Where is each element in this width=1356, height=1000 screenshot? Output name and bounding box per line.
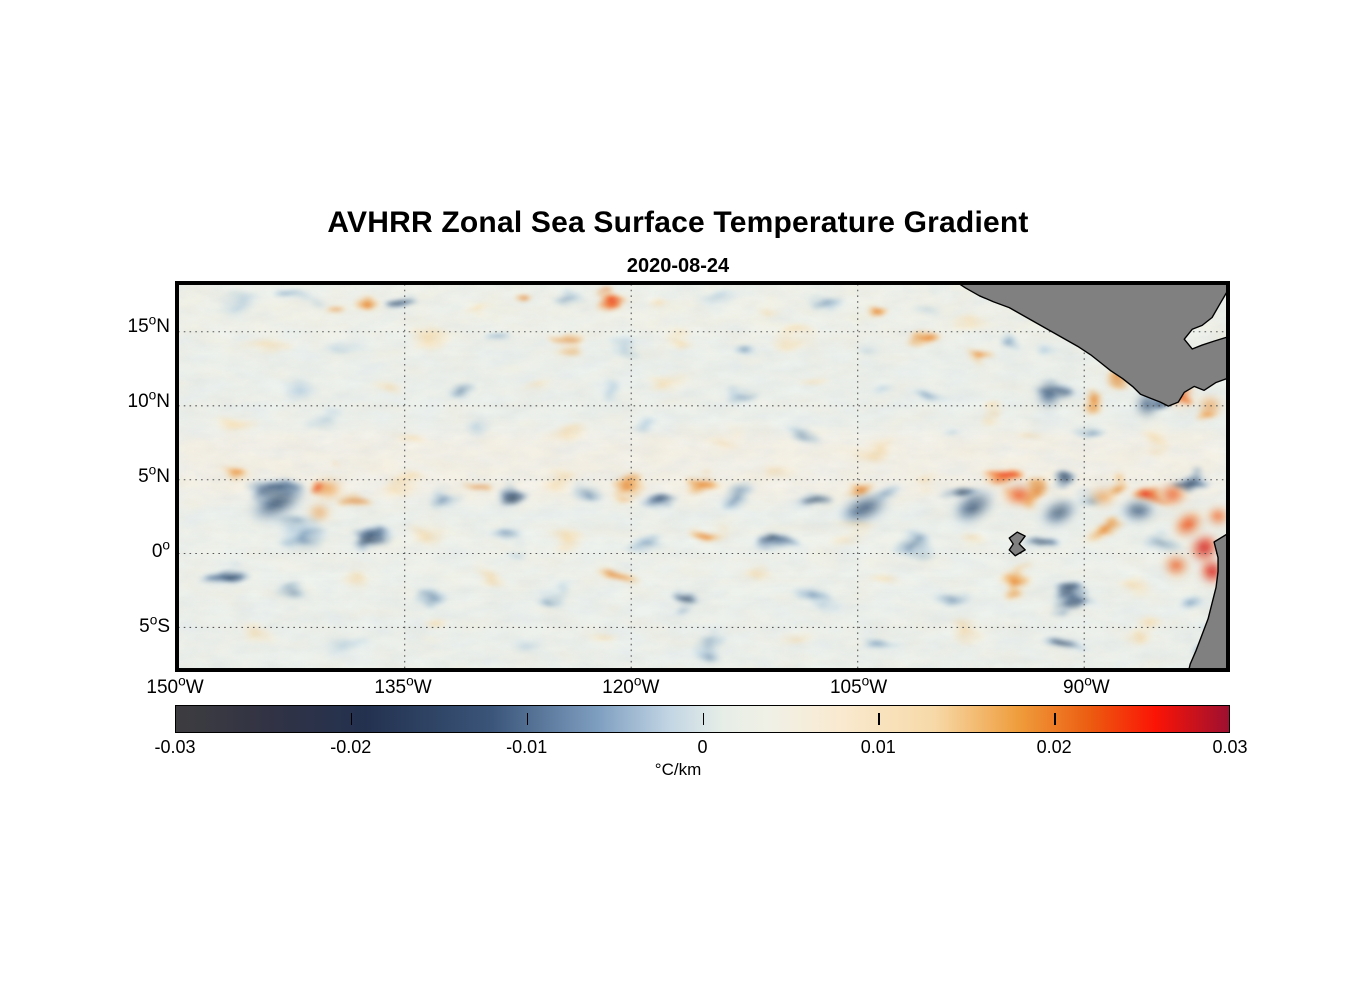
y-tick-10N: 10oN [100, 392, 170, 411]
x-tick-135W: 135oW [343, 678, 463, 697]
y-tick-5S: 5oS [100, 617, 170, 636]
cb-label-pos001: 0.01 [818, 738, 938, 756]
y-tick-15N: 15oN [100, 317, 170, 336]
y-axis-tick-labels: 15oN 10oN 5oN 0o 5oS [96, 281, 170, 672]
colorbar-tick [1054, 713, 1056, 725]
x-tick-90W: 90oW [1026, 678, 1146, 697]
cb-label-pos003: 0.03 [1170, 738, 1290, 756]
sst-gradient-heatmap [178, 284, 1227, 669]
colorbar-tick [351, 713, 353, 725]
y-tick-0: 0o [100, 542, 170, 561]
x-tick-105W: 105oW [799, 678, 919, 697]
map-plot-area [175, 281, 1230, 672]
x-axis-tick-labels: 150oW 135oW 120oW 105oW 90oW [175, 678, 1230, 706]
colorbar-tick-labels: -0.03 -0.02 -0.01 0 0.01 0.02 0.03 [175, 738, 1230, 762]
cb-label-neg001: -0.01 [467, 738, 587, 756]
cb-label-pos002: 0.02 [994, 738, 1114, 756]
figure-date-subtitle: 2020-08-24 [0, 255, 1356, 278]
cb-label-neg003: -0.03 [115, 738, 235, 756]
colorbar-tick [703, 713, 705, 725]
x-tick-150W: 150oW [115, 678, 235, 697]
page-title: AVHRR Zonal Sea Surface Temperature Grad… [0, 206, 1356, 240]
figure-canvas: AVHRR Zonal Sea Surface Temperature Grad… [0, 0, 1356, 1000]
y-tick-5N: 5oN [100, 467, 170, 486]
colorbar-tick [527, 713, 529, 725]
cb-label-neg002: -0.02 [291, 738, 411, 756]
colorbar-tick [878, 713, 880, 725]
colorbar-unit-label: °C/km [0, 760, 1356, 780]
colorbar [175, 705, 1230, 733]
x-tick-120W: 120oW [571, 678, 691, 697]
cb-label-zero: 0 [643, 738, 763, 756]
